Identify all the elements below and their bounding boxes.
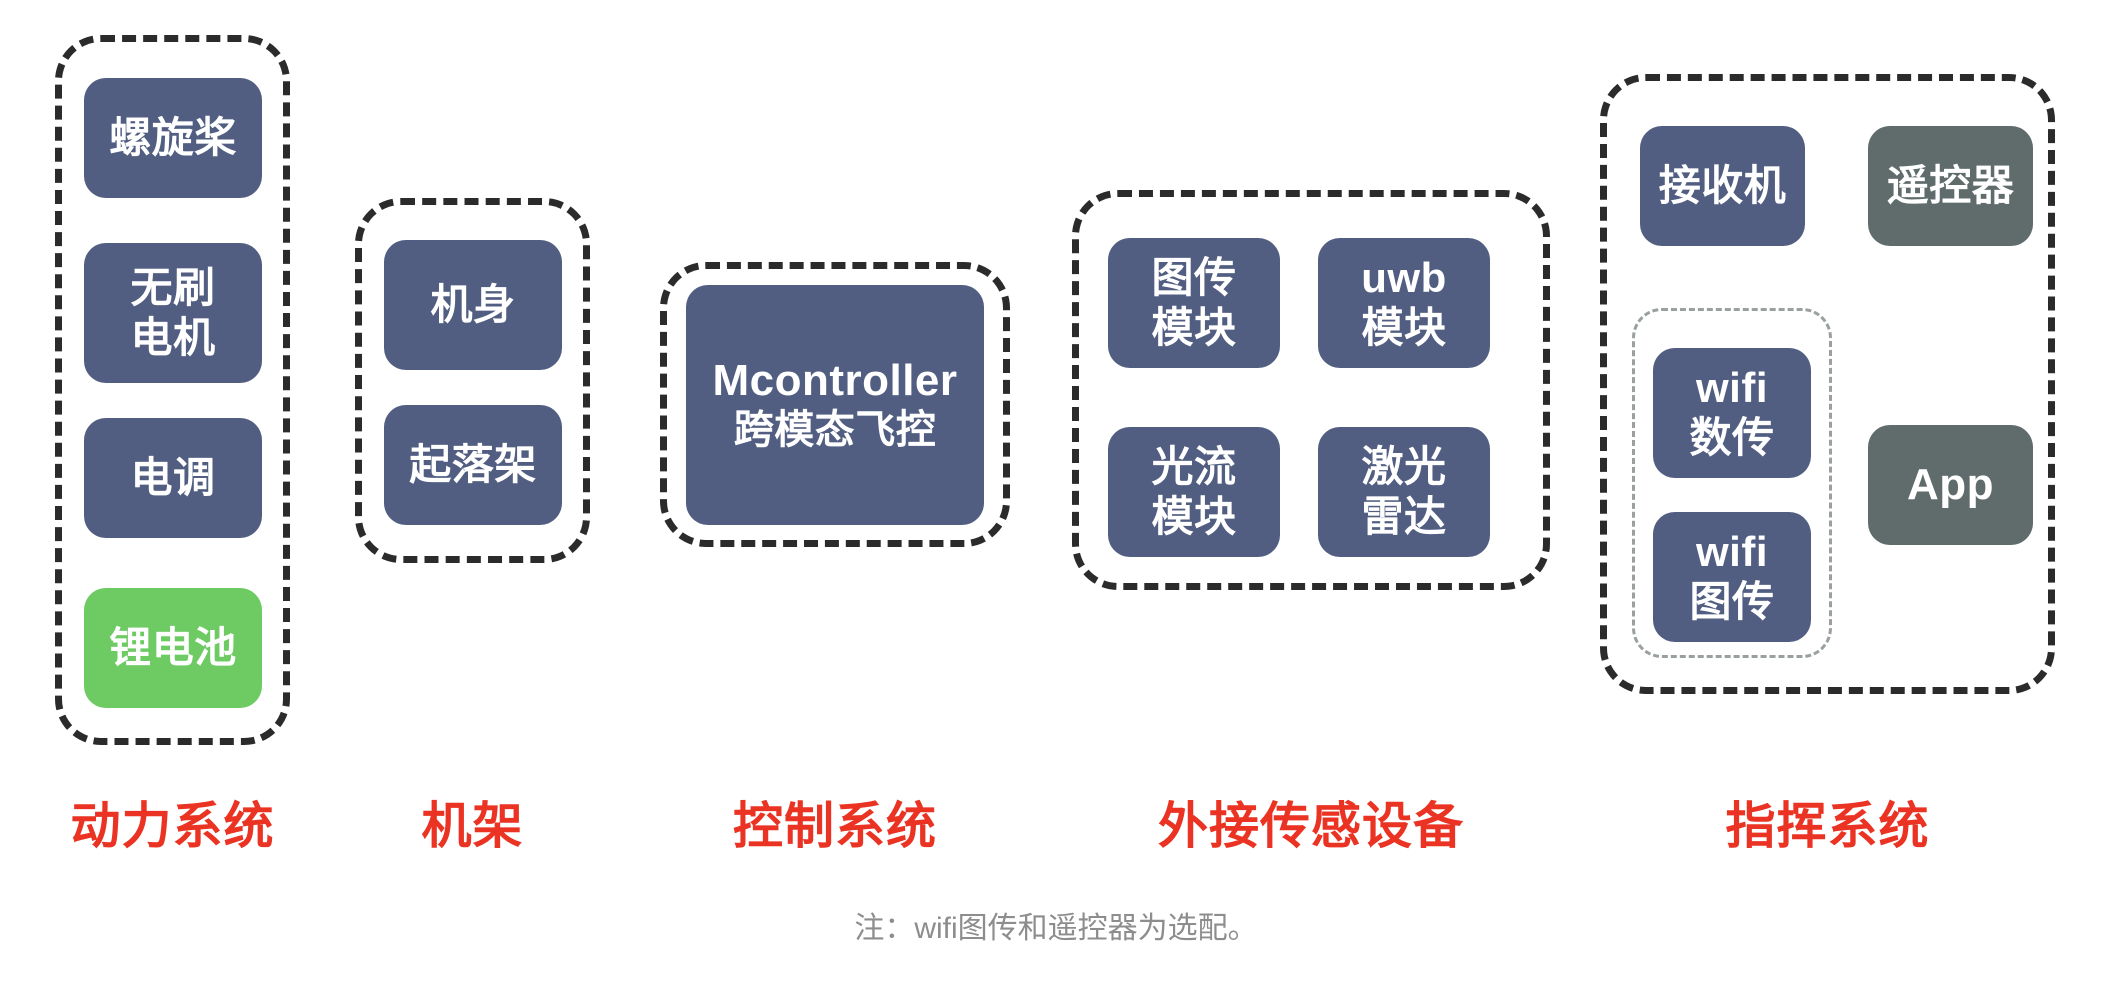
node-mcontroller-line-0: Mcontroller	[712, 355, 957, 407]
node-optical-flow-module-line-1: 模块	[1151, 492, 1236, 542]
caption-command-system: 指挥系统	[1600, 786, 2055, 858]
node-propeller[interactable]: 螺旋桨	[84, 78, 262, 198]
node-video-transmission-module[interactable]: 图传 模块	[1108, 238, 1280, 368]
node-app-line-0: App	[1907, 459, 1994, 511]
node-fuselage[interactable]: 机身	[384, 240, 562, 370]
node-lithium-battery[interactable]: 锂电池	[84, 588, 262, 708]
caption-control-system: 控制系统	[660, 786, 1010, 858]
node-lidar-line-0: 激光	[1361, 442, 1446, 492]
node-wifi-data-link-line-0: wifi	[1696, 363, 1768, 413]
node-receiver[interactable]: 接收机	[1640, 126, 1805, 246]
node-video-transmission-module-line-0: 图传	[1151, 253, 1236, 303]
node-lithium-battery-line-0: 锂电池	[109, 623, 237, 673]
node-optical-flow-module[interactable]: 光流 模块	[1108, 427, 1280, 557]
node-brushless-motor-line-1: 电机	[130, 313, 215, 363]
node-receiver-line-0: 接收机	[1659, 161, 1787, 211]
node-wifi-data-link[interactable]: wifi 数传	[1653, 348, 1811, 478]
node-wifi-video-link-line-1: 图传	[1689, 577, 1774, 627]
node-lidar[interactable]: 激光 雷达	[1318, 427, 1490, 557]
node-esc-line-0: 电调	[130, 453, 215, 503]
node-esc[interactable]: 电调	[84, 418, 262, 538]
caption-external-sensors: 外接传感设备	[1072, 786, 1550, 858]
node-app[interactable]: App	[1868, 425, 2033, 545]
node-lidar-line-1: 雷达	[1361, 492, 1446, 542]
diagram-canvas: 螺旋桨 无刷 电机 电调 锂电池 动力系统 机身 起落架 机架 Mcontrol…	[0, 0, 2112, 986]
node-optical-flow-module-line-0: 光流	[1151, 442, 1236, 492]
node-video-transmission-module-line-1: 模块	[1151, 303, 1236, 353]
node-brushless-motor-line-0: 无刷	[130, 263, 215, 313]
caption-airframe: 机架	[355, 786, 590, 858]
node-uwb-module[interactable]: uwb 模块	[1318, 238, 1490, 368]
node-landing-gear-line-0: 起落架	[409, 440, 537, 490]
node-mcontroller-line-1: 跨模态飞控	[734, 407, 937, 454]
footnote-optional-note: 注：wifi图传和遥控器为选配。	[0, 903, 2112, 947]
node-wifi-video-link-line-0: wifi	[1696, 527, 1768, 577]
node-remote-controller-line-0: 遥控器	[1887, 161, 2015, 211]
node-propeller-line-0: 螺旋桨	[109, 113, 237, 163]
node-fuselage-line-0: 机身	[430, 280, 515, 330]
node-wifi-data-link-line-1: 数传	[1689, 413, 1774, 463]
node-landing-gear[interactable]: 起落架	[384, 405, 562, 525]
node-wifi-video-link[interactable]: wifi 图传	[1653, 512, 1811, 642]
caption-power-system: 动力系统	[55, 786, 290, 858]
node-uwb-module-line-1: 模块	[1361, 303, 1446, 353]
node-mcontroller[interactable]: Mcontroller 跨模态飞控	[686, 285, 984, 525]
node-brushless-motor[interactable]: 无刷 电机	[84, 243, 262, 383]
node-remote-controller[interactable]: 遥控器	[1868, 126, 2033, 246]
node-uwb-module-line-0: uwb	[1361, 253, 1446, 303]
